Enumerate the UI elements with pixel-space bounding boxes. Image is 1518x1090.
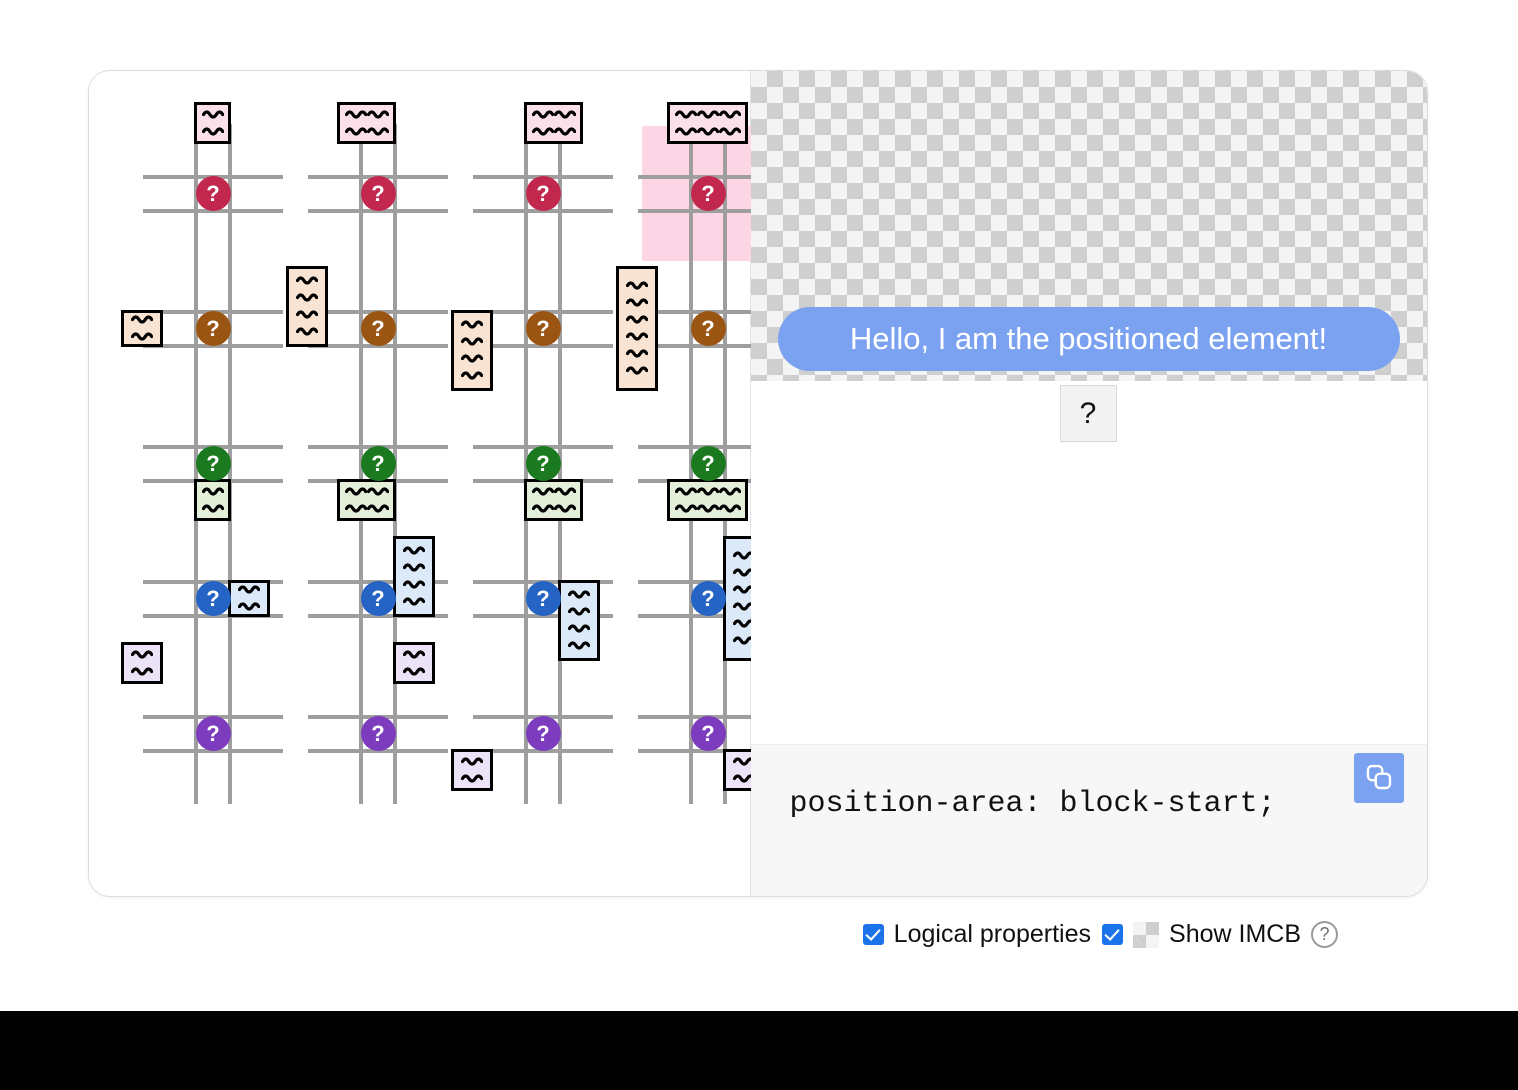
diagram-positioned-box	[667, 102, 748, 144]
diagram-anchor-marker: ?	[196, 716, 231, 751]
diagram-positioned-box	[194, 479, 231, 521]
diagram-positioned-box	[228, 580, 270, 617]
diagram-positioned-box	[451, 310, 493, 391]
diagram-positioned-box	[667, 479, 748, 521]
diagram-positioned-box	[337, 479, 396, 521]
position-area-diagram: ?	[161, 682, 265, 786]
css-declaration-text: position-area: block-start;	[790, 787, 1276, 821]
position-area-diagram: ?	[491, 277, 595, 381]
position-area-diagram: ?	[656, 412, 760, 516]
position-area-diagram: ?	[326, 142, 430, 246]
diagram-anchor-marker: ?	[361, 716, 396, 751]
copy-icon	[1364, 762, 1394, 795]
position-area-diagram: ?	[656, 547, 760, 651]
position-area-diagram: ?	[656, 682, 760, 786]
position-area-option[interactable]: ?	[312, 396, 444, 531]
position-area-diagram: ?	[326, 547, 430, 651]
diagram-positioned-box	[121, 310, 163, 347]
logical-properties-checkbox[interactable]	[863, 924, 884, 945]
position-area-diagram: ?	[491, 142, 595, 246]
position-area-option[interactable]: ?	[477, 261, 609, 396]
position-area-diagram: ?	[161, 142, 265, 246]
diagram-anchor-marker: ?	[526, 311, 561, 346]
diagram-anchor-marker: ?	[691, 446, 726, 481]
position-area-diagram: ?	[656, 277, 760, 381]
position-area-option[interactable]: ?	[147, 666, 279, 801]
position-area-option[interactable]: ?	[477, 531, 609, 666]
code-output-panel: position-area: block-start;	[751, 744, 1428, 896]
position-area-picker-pane: ????????????????????	[89, 71, 751, 896]
position-area-card: ???????????????????? Hello, I am the pos…	[88, 70, 1428, 897]
position-area-option[interactable]: ?	[147, 126, 279, 261]
position-area-diagram: ?	[491, 682, 595, 786]
diagram-anchor-marker: ?	[361, 311, 396, 346]
controls-bar: Logical properties Show IMCB ?	[0, 920, 1428, 949]
position-area-option[interactable]: ?	[312, 261, 444, 396]
diagram-anchor-marker: ?	[691, 176, 726, 211]
anchor-element-chip[interactable]: ?	[1060, 385, 1117, 442]
copy-code-button[interactable]	[1354, 753, 1404, 803]
diagram-anchor-marker: ?	[691, 581, 726, 616]
position-area-option[interactable]: ?	[147, 531, 279, 666]
show-imcb-checkbox[interactable]	[1102, 924, 1123, 945]
diagram-anchor-marker: ?	[691, 311, 726, 346]
position-area-option[interactable]: ?	[477, 666, 609, 801]
diagram-anchor-marker: ?	[196, 446, 231, 481]
diagram-anchor-marker: ?	[361, 581, 396, 616]
diagram-anchor-marker: ?	[526, 716, 561, 751]
diagram-anchor-marker: ?	[526, 446, 561, 481]
diagram-positioned-box	[524, 102, 583, 144]
logical-properties-label: Logical properties	[894, 920, 1091, 949]
position-area-option[interactable]: ?	[312, 126, 444, 261]
bottom-band	[0, 1011, 1518, 1090]
diagram-anchor-marker: ?	[526, 581, 561, 616]
diagram-positioned-box	[393, 536, 435, 617]
diagram-anchor-marker: ?	[196, 581, 231, 616]
app-root: ???????????????????? Hello, I am the pos…	[0, 0, 1518, 1090]
show-imcb-control[interactable]: Show IMCB ?	[1102, 920, 1338, 949]
diagram-positioned-box	[524, 479, 583, 521]
diagram-positioned-box	[451, 749, 493, 791]
diagram-positioned-box	[558, 580, 600, 661]
position-area-option[interactable]: ?	[147, 261, 279, 396]
diagram-anchor-marker: ?	[361, 176, 396, 211]
position-area-option[interactable]: ?	[147, 396, 279, 531]
position-area-option[interactable]: ?	[477, 396, 609, 531]
position-area-option[interactable]: ?	[312, 666, 444, 801]
diagram-anchor-marker: ?	[196, 176, 231, 211]
diagram-positioned-box	[616, 266, 658, 391]
position-area-diagram: ?	[161, 547, 265, 651]
positioned-element-bubble: Hello, I am the positioned element!	[778, 307, 1400, 371]
position-area-diagram: ?	[161, 277, 265, 381]
logical-properties-control[interactable]: Logical properties	[863, 920, 1091, 949]
help-icon[interactable]: ?	[1311, 921, 1338, 948]
diagram-positioned-box	[194, 102, 231, 144]
preview-pane: Hello, I am the positioned element! ? po…	[751, 71, 1428, 896]
position-area-diagram: ?	[491, 547, 595, 651]
diagram-positioned-box	[337, 102, 396, 144]
diagram-positioned-box	[393, 642, 435, 684]
diagram-anchor-marker: ?	[526, 176, 561, 211]
checkerboard-swatch-icon	[1133, 922, 1159, 948]
position-area-option[interactable]: ?	[477, 126, 609, 261]
diagram-positioned-box	[286, 266, 328, 347]
diagram-positioned-box	[121, 642, 163, 684]
position-area-diagram: ?	[656, 142, 760, 246]
position-area-diagram: ?	[161, 412, 265, 516]
position-area-option-grid[interactable]: ????????????????????	[147, 126, 774, 801]
diagram-anchor-marker: ?	[196, 311, 231, 346]
position-area-diagram: ?	[326, 277, 430, 381]
position-area-diagram: ?	[491, 412, 595, 516]
diagram-anchor-marker: ?	[691, 716, 726, 751]
show-imcb-label: Show IMCB	[1169, 920, 1301, 949]
position-area-diagram: ?	[326, 682, 430, 786]
diagram-anchor-marker: ?	[361, 446, 396, 481]
position-area-diagram: ?	[326, 412, 430, 516]
